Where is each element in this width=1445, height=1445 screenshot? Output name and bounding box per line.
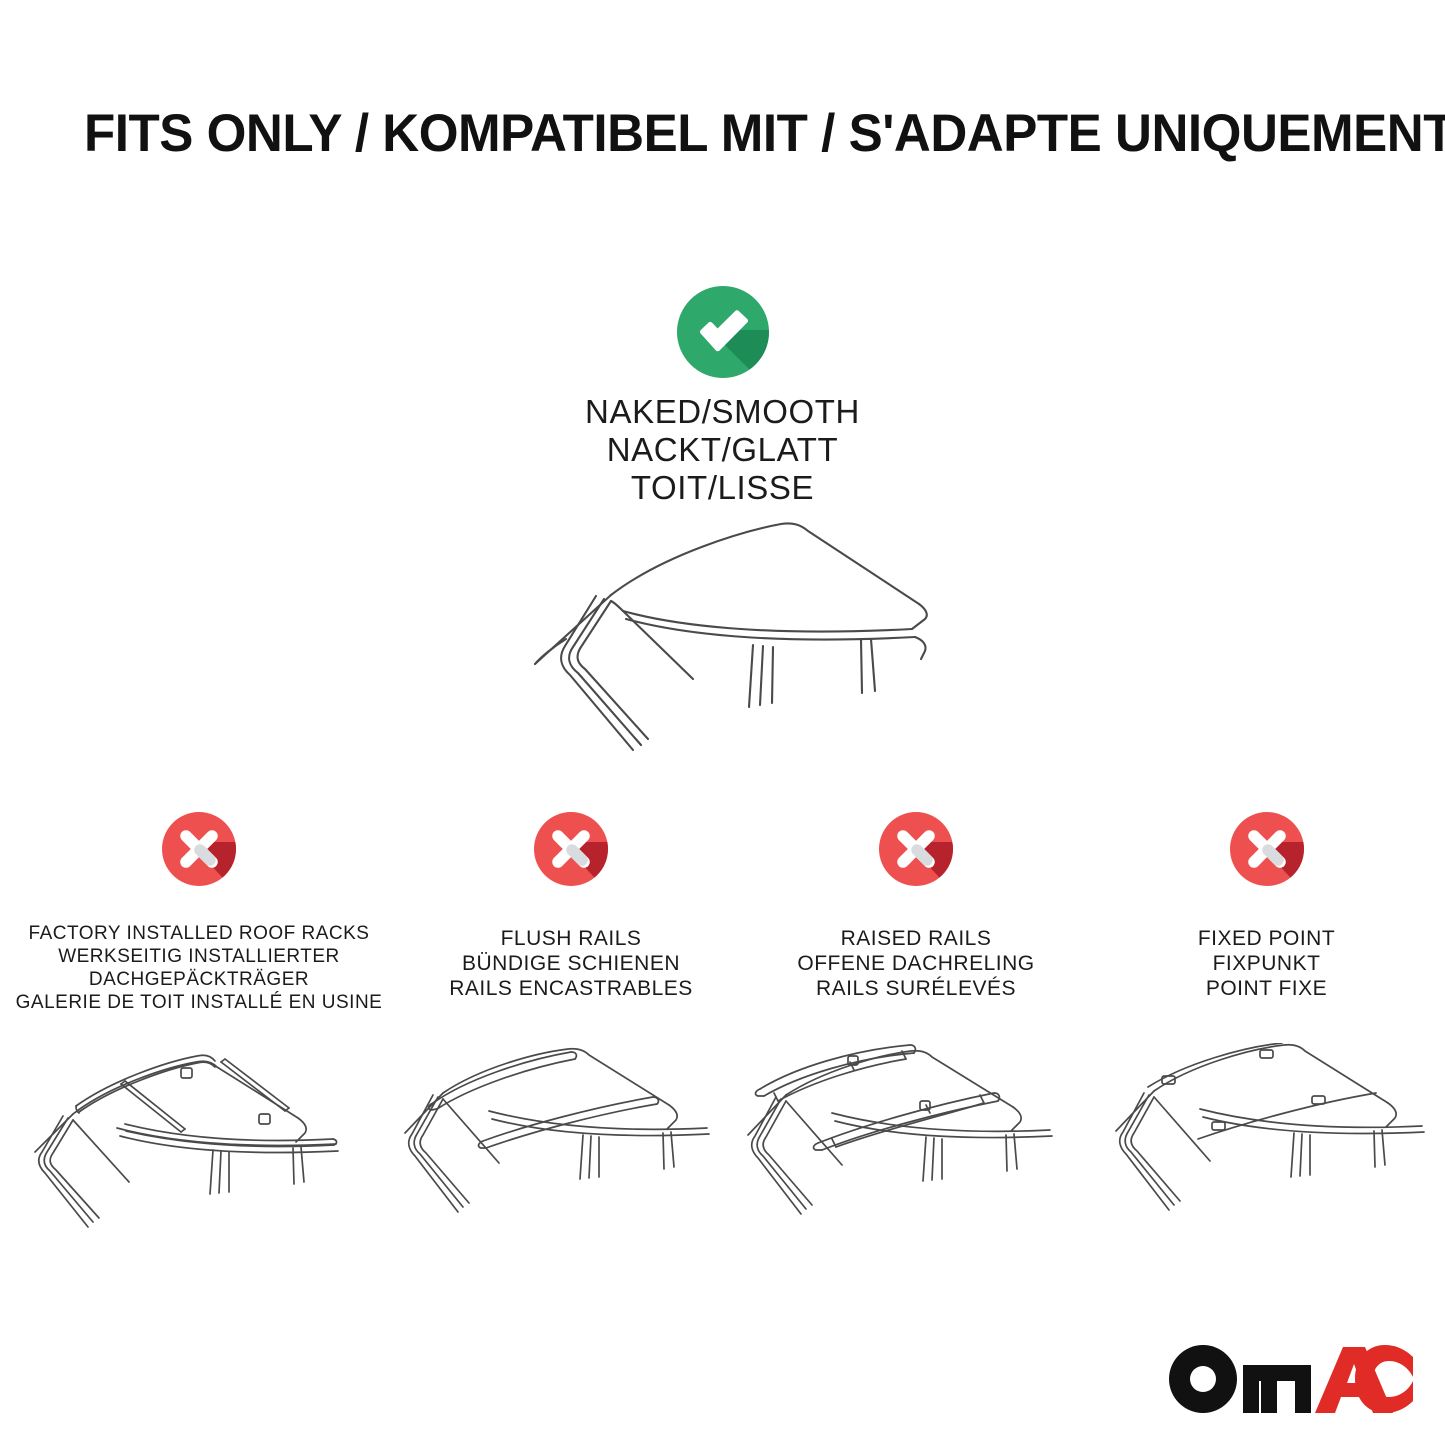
cross-circle-icon: [879, 812, 953, 886]
incompatible-label-2: FLUSH RAILS BÜNDIGE SCHIENEN RAILS ENCAS…: [449, 926, 693, 1001]
label-line: DACHGEPÄCKTRÄGER: [16, 968, 383, 991]
compatible-icon-wrap: [0, 286, 1445, 378]
label-line: GALERIE DE TOIT INSTALLÉ EN USINE: [16, 991, 383, 1014]
cross-circle-icon: [162, 812, 236, 886]
label-line: WERKSEITIG INSTALLIERTER: [16, 945, 383, 968]
compatible-section: NAKED/SMOOTH NACKT/GLATT TOIT/LISSE: [0, 286, 1445, 507]
cross-circle-icon: [1230, 812, 1304, 886]
compatible-label-line-2: NACKT/GLATT: [0, 431, 1445, 469]
page-title: FITS ONLY / KOMPATIBEL MIT / S'ADAPTE UN…: [84, 104, 1329, 164]
label-line: FIXED POINT: [1198, 926, 1335, 951]
label-line: POINT FIXE: [1198, 976, 1335, 1001]
omac-logo: [1165, 1341, 1413, 1417]
compatible-label-line-1: NAKED/SMOOTH: [0, 393, 1445, 431]
car-roof-naked-smooth-illustration: [0, 507, 1445, 757]
label-line: OFFENE DACHRELING: [797, 951, 1034, 976]
cross-icon-wrap-1: [162, 812, 236, 920]
cross-icon-wrap-2: [534, 812, 608, 920]
incompatible-label-4: FIXED POINT FIXPUNKT POINT FIXE: [1198, 926, 1335, 1001]
incompatible-item-factory-roof-racks: FACTORY INSTALLED ROOF RACKS WERKSEITIG …: [0, 812, 398, 1273]
label-line: FLUSH RAILS: [449, 926, 693, 951]
cross-icon-wrap-3: [879, 812, 953, 920]
label-line: RAISED RAILS: [797, 926, 1034, 951]
incompatible-label-1: FACTORY INSTALLED ROOF RACKS WERKSEITIG …: [16, 922, 383, 1014]
car-roof-flush-rails-illustration: [385, 1043, 757, 1273]
car-roof-fixed-point-illustration: [1102, 1043, 1432, 1273]
cross-circle-icon: [534, 812, 608, 886]
label-line: RAILS ENCASTRABLES: [449, 976, 693, 1001]
label-line: FIXPUNKT: [1198, 951, 1335, 976]
incompatible-item-flush-rails: FLUSH RAILS BÜNDIGE SCHIENEN RAILS ENCAS…: [398, 812, 744, 1273]
cross-icon-wrap-4: [1230, 812, 1304, 920]
label-line: RAILS SURÉLEVÉS: [797, 976, 1034, 1001]
incompatible-section: FACTORY INSTALLED ROOF RACKS WERKSEITIG …: [0, 812, 1445, 1273]
incompatible-item-fixed-point: FIXED POINT FIXPUNKT POINT FIXE: [1088, 812, 1445, 1273]
check-circle-icon: [677, 286, 769, 378]
incompatible-label-3: RAISED RAILS OFFENE DACHRELING RAILS SUR…: [797, 926, 1034, 1001]
car-roof-raised-rails-illustration: [730, 1043, 1102, 1273]
compatible-label: NAKED/SMOOTH NACKT/GLATT TOIT/LISSE: [0, 393, 1445, 507]
compatible-label-line-3: TOIT/LISSE: [0, 469, 1445, 507]
label-line: BÜNDIGE SCHIENEN: [449, 951, 693, 976]
car-roof-factory-roof-racks-illustration: [13, 1032, 385, 1262]
incompatible-item-raised-rails: RAISED RAILS OFFENE DACHRELING RAILS SUR…: [744, 812, 1088, 1273]
label-line: FACTORY INSTALLED ROOF RACKS: [16, 922, 383, 945]
